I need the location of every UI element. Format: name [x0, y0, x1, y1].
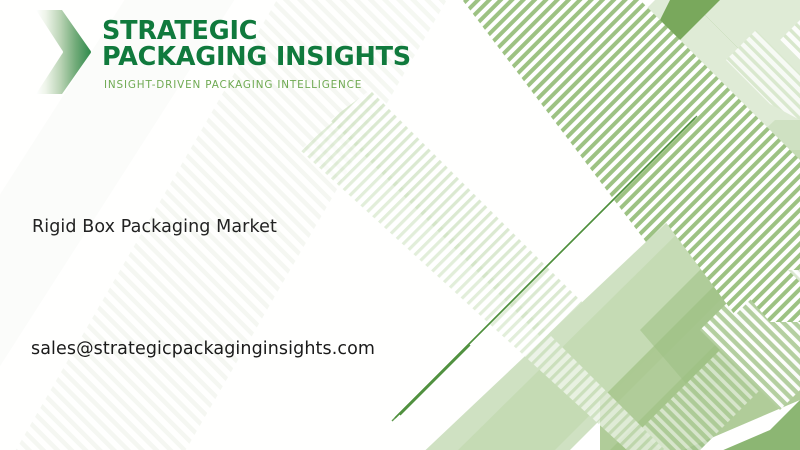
artwork-white-stripes-on-green — [640, 180, 800, 450]
logo-line-2: PACKAGING INSIGHTS — [102, 44, 411, 70]
artwork-thin-accent-line-lower — [398, 228, 560, 415]
artwork-striped-band-right — [660, 175, 800, 380]
artwork-mid-green-band — [595, 150, 800, 450]
report-title: Rigid Box Packaging Market — [32, 217, 277, 237]
company-logo: STRATEGIC PACKAGING INSIGHTS INSIGHT-DRI… — [32, 8, 411, 96]
artwork-stripe-arm — [455, 0, 800, 270]
artwork-thin-accent-line — [300, 116, 697, 450]
artwork-striped-fan-upper — [432, 0, 800, 300]
artwork-pale-blocks — [595, 0, 800, 240]
artwork-light-green-band-inner — [448, 150, 800, 450]
artwork-corner-highlight-stripes — [726, 0, 800, 120]
artwork-light-green-band — [415, 120, 800, 450]
slide-canvas: STRATEGIC PACKAGING INSIGHTS INSIGHT-DRI… — [0, 0, 800, 450]
artwork-white-gap-lower — [545, 158, 800, 450]
contact-email[interactable]: sales@strategicpackaginginsights.com — [31, 339, 375, 359]
artwork-lower-left-white — [0, 300, 330, 450]
artwork-white-separators — [742, 242, 800, 300]
artwork-central-striped-band — [458, 0, 800, 322]
logo-line-1: STRATEGIC — [102, 18, 411, 44]
logo-tagline: INSIGHT-DRIVEN PACKAGING INTELLIGENCE — [104, 79, 411, 91]
artwork-soft-green-wedge — [600, 180, 800, 450]
artwork-faint-stripe-arm — [300, 120, 700, 450]
artwork-pale-overlay-square — [600, 0, 800, 265]
artwork-solid-green-shapes — [640, 0, 800, 290]
chevron-right-icon — [32, 8, 94, 96]
logo-wordmark: STRATEGIC PACKAGING INSIGHTS INSIGHT-DRI… — [102, 14, 411, 91]
artwork-ghost-stripes-left — [330, 90, 700, 450]
